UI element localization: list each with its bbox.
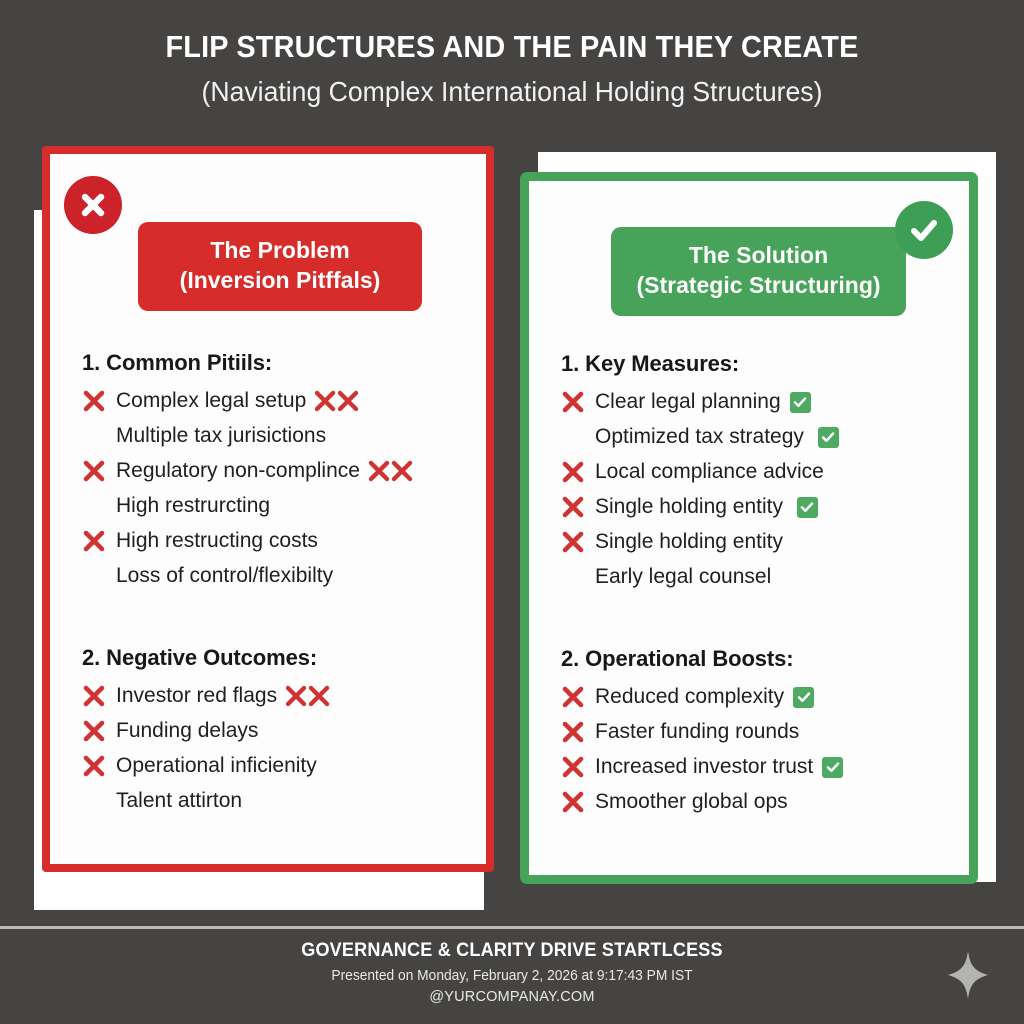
- footer-url: @YURCOMPANAY.COM: [0, 984, 1024, 1005]
- list-item: Single holding entity: [555, 525, 951, 559]
- list-item-label: High restructing costs: [116, 529, 318, 553]
- problem-card[interactable]: The Problem (Inversion Pitffals) 1. Comm…: [42, 146, 494, 872]
- double-x-mark-icon: [369, 460, 413, 482]
- problem-section-1: 1. Common Pitiils: Complex legal setup M…: [76, 350, 468, 593]
- problem-pill-header: The Problem (Inversion Pitffals): [138, 222, 422, 311]
- list-item-label: Investor red flags: [116, 684, 277, 708]
- list-item-label: Early legal counsel: [595, 565, 771, 589]
- list-item: Regulatory non-complince: [76, 454, 468, 488]
- list-item: Talent attirton: [76, 784, 468, 818]
- x-mark-icon: [555, 755, 595, 779]
- solution-pill-line1: The Solution: [627, 240, 890, 270]
- solution-pill-header: The Solution (Strategic Structuring): [611, 227, 906, 316]
- list-item: Early legal counsel: [555, 560, 951, 594]
- comparison-cards: The Problem (Inversion Pitffals) 1. Comm…: [0, 132, 1024, 914]
- list-item-label: Local compliance advice: [595, 460, 824, 484]
- double-x-mark-icon: [286, 685, 330, 707]
- x-mark-icon: [76, 459, 116, 483]
- list-item-label: Loss of control/flexibilty: [116, 564, 333, 588]
- x-mark-icon: [555, 685, 595, 709]
- list-item-label: Increased investor trust: [595, 755, 813, 779]
- circle-check-icon: [895, 201, 953, 259]
- list-item: Clear legal planning: [555, 385, 951, 419]
- list-item-label: Funding delays: [116, 719, 258, 743]
- solution-sections: 1. Key Measures: Clear legal planning Op…: [555, 351, 951, 820]
- list-item: Multiple tax jurisictions: [76, 419, 468, 453]
- solution-card[interactable]: The Solution (Strategic Structuring) 1. …: [520, 172, 978, 884]
- list-item: Operational inficienity: [76, 749, 468, 783]
- problem-section-2: 2. Negative Outcomes: Investor red flags: [76, 645, 468, 818]
- section-title: 1. Key Measures:: [561, 351, 951, 377]
- check-mark-icon: [818, 427, 839, 448]
- list-item-label: High restrurcting: [116, 494, 270, 518]
- section-title: 2. Operational Boosts:: [561, 646, 951, 672]
- double-x-mark-icon: [315, 390, 359, 412]
- x-mark-icon: [555, 530, 595, 554]
- problem-pill-line1: The Problem: [154, 235, 406, 265]
- x-mark-icon: [555, 495, 595, 519]
- x-mark-icon: [76, 529, 116, 553]
- list-item: Smoother global ops: [555, 785, 951, 819]
- footer-presented-on: Presented on Monday, February 2, 2026 at…: [26, 962, 999, 984]
- problem-sections: 1. Common Pitiils: Complex legal setup M…: [76, 350, 468, 819]
- circle-x-icon: [64, 176, 122, 234]
- list-item-label: Clear legal planning: [595, 390, 781, 414]
- x-mark-icon: [76, 719, 116, 743]
- x-mark-icon: [76, 754, 116, 778]
- footer-headline: GOVERNANCE & CLARITY DRIVE STARTLCESS: [26, 929, 999, 962]
- list-item: Complex legal setup: [76, 384, 468, 418]
- list-item-label: Operational inficienity: [116, 754, 317, 778]
- x-mark-icon: [555, 390, 595, 414]
- section-title: 2. Negative Outcomes:: [82, 645, 468, 671]
- list-item: Optimized tax strategy: [555, 420, 951, 454]
- page-title: FLIP STRUCTURES AND THE PAIN THEY CREATE: [36, 0, 988, 64]
- list-item: Loss of control/flexibilty: [76, 559, 468, 593]
- solution-pill-line2: (Strategic Structuring): [627, 270, 890, 300]
- list-item: Funding delays: [76, 714, 468, 748]
- solution-section-2: 2. Operational Boosts: Reduced complexit…: [555, 646, 951, 819]
- page-subtitle: (Naviating Complex International Holding…: [26, 64, 999, 108]
- list-item: Reduced complexity: [555, 680, 951, 714]
- list-item: Increased investor trust: [555, 750, 951, 784]
- x-mark-icon: [76, 389, 116, 413]
- solution-section-1: 1. Key Measures: Clear legal planning Op…: [555, 351, 951, 594]
- list-item-label: Complex legal setup: [116, 389, 306, 413]
- list-item: High restructing costs: [76, 524, 468, 558]
- list-item-label: Single holding entity: [595, 530, 783, 554]
- list-item-label: Talent attirton: [116, 789, 242, 813]
- x-mark-icon: [76, 684, 116, 708]
- list-item: Single holding entity: [555, 490, 951, 524]
- list-item-label: Regulatory non-complince: [116, 459, 360, 483]
- page-header: FLIP STRUCTURES AND THE PAIN THEY CREATE…: [0, 0, 1024, 132]
- check-mark-icon: [790, 392, 811, 413]
- check-mark-icon: [793, 687, 814, 708]
- check-mark-icon: [822, 757, 843, 778]
- list-item: Investor red flags: [76, 679, 468, 713]
- list-item-label: Reduced complexity: [595, 685, 784, 709]
- list-item-label: Smoother global ops: [595, 790, 788, 814]
- list-item: High restrurcting: [76, 489, 468, 523]
- list-item-label: Multiple tax jurisictions: [116, 424, 326, 448]
- section-title: 1. Common Pitiils:: [82, 350, 468, 376]
- x-mark-icon: [555, 720, 595, 744]
- problem-pill-line2: (Inversion Pitffals): [154, 265, 406, 295]
- x-mark-icon: [555, 460, 595, 484]
- x-mark-icon: [555, 790, 595, 814]
- check-mark-icon: [797, 497, 818, 518]
- list-item-label: Optimized tax strategy: [595, 425, 804, 449]
- sparkle-icon: [946, 949, 990, 1006]
- page-footer: GOVERNANCE & CLARITY DRIVE STARTLCESS Pr…: [0, 929, 1024, 1024]
- list-item-label: Faster funding rounds: [595, 720, 799, 744]
- list-item-label: Single holding entity: [595, 495, 783, 519]
- list-item: Local compliance advice: [555, 455, 951, 489]
- list-item: Faster funding rounds: [555, 715, 951, 749]
